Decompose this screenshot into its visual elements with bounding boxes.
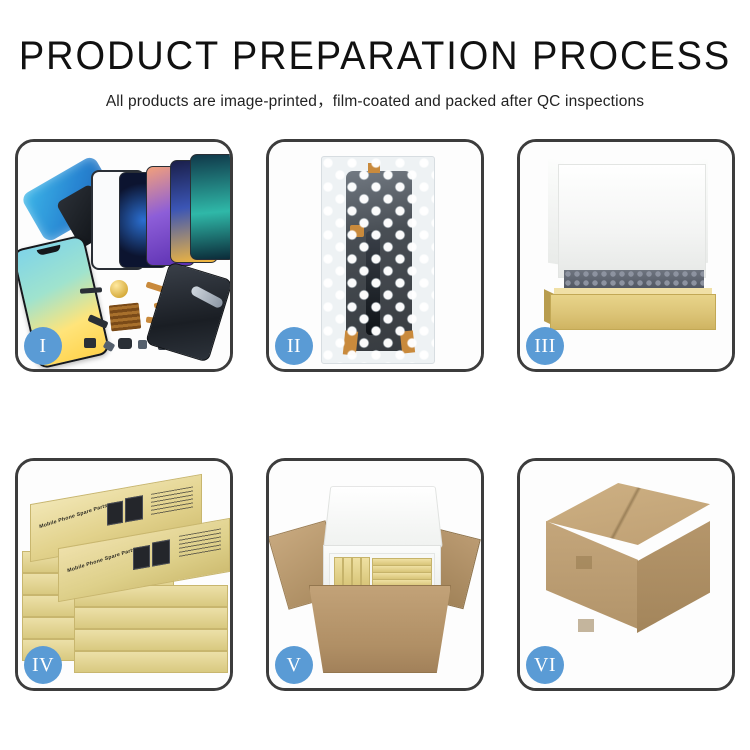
inner-box-item xyxy=(343,557,352,587)
small-part-icon xyxy=(118,338,132,349)
chip-array-icon xyxy=(109,303,142,332)
label-text-lines xyxy=(179,528,221,557)
process-grid: I II xyxy=(15,139,735,691)
box-label-text: Mobile Phone Spare Parts xyxy=(67,547,136,574)
step-panel-1: I xyxy=(15,139,233,372)
bubble-wrap-bag-icon xyxy=(321,156,435,364)
page-title: PRODUCT PREPARATION PROCESS xyxy=(19,36,732,76)
foam-tray-icon xyxy=(329,553,435,589)
carton-tape-icon xyxy=(576,556,592,569)
step-badge-2: II xyxy=(275,327,313,365)
foam-lid-icon xyxy=(323,486,443,548)
step-panel-6: VI xyxy=(517,458,735,691)
step-badge-4: IV xyxy=(24,646,62,684)
shipping-carton-icon xyxy=(309,585,451,673)
inner-box-item xyxy=(334,557,343,587)
foam-lid-icon xyxy=(558,164,706,278)
label-screen-image xyxy=(152,539,170,566)
step-panel-4: Mobile Phone Spare Parts Mobile Phone Sp… xyxy=(15,458,233,691)
small-part-icon xyxy=(138,340,147,349)
product-preparation-infographic: PRODUCT PREPARATION PROCESS All products… xyxy=(0,0,750,750)
stacked-box-layer xyxy=(74,629,228,651)
step-badge-5: V xyxy=(275,646,313,684)
step-badge-3: III xyxy=(526,327,564,365)
bubble-highlight-texture xyxy=(322,157,434,363)
label-text-lines xyxy=(151,486,193,515)
inner-box-item xyxy=(361,557,370,587)
step-panel-3: III xyxy=(517,139,735,372)
step-badge-1: I xyxy=(24,327,62,365)
step-panel-5: V xyxy=(266,458,484,691)
phone-screen-d-icon xyxy=(190,154,230,260)
flex-cable-icon xyxy=(80,287,102,294)
label-screen-image xyxy=(133,545,150,570)
label-screen-image xyxy=(107,501,123,526)
header: PRODUCT PREPARATION PROCESS All products… xyxy=(0,0,750,111)
stacked-box-layer xyxy=(74,607,228,629)
stacked-box-layer xyxy=(74,651,228,673)
inner-box-item xyxy=(352,557,361,587)
page-subtitle: All products are image-printed，film-coat… xyxy=(0,89,750,111)
box-label-text: Mobile Phone Spare Parts xyxy=(39,503,108,530)
label-screen-image xyxy=(125,495,143,522)
yellow-inner-box-icon xyxy=(550,294,716,330)
small-part-icon xyxy=(84,338,96,348)
step-badge-6: VI xyxy=(526,646,564,684)
gold-component-icon xyxy=(110,280,128,298)
box-stack-icon: Mobile Phone Spare Parts Mobile Phone Sp… xyxy=(22,489,228,671)
carton-tape-icon xyxy=(578,619,594,632)
step-panel-2: II xyxy=(266,139,484,372)
phone-back-cover-icon xyxy=(145,261,230,363)
